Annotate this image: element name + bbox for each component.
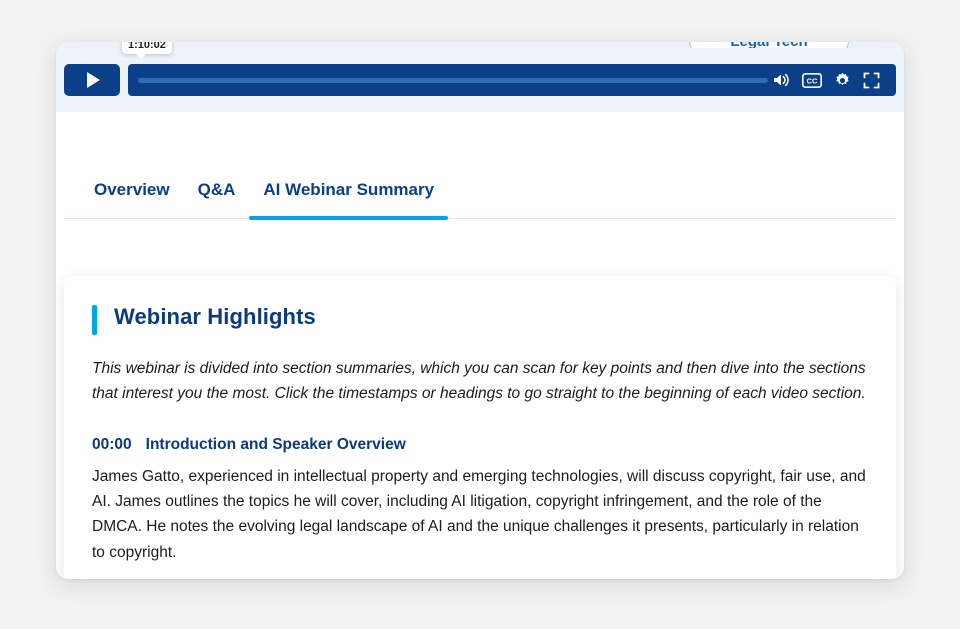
time-tooltip: 1:10:02 <box>122 42 172 54</box>
section-body-0: James Gatto, experienced in intellectual… <box>92 464 868 564</box>
section-timestamp-0[interactable]: 00:00 <box>92 436 132 453</box>
gear-icon[interactable] <box>834 72 851 89</box>
tab-list: Overview Q&A AI Webinar Summary <box>64 154 896 219</box>
progress-bar[interactable]: 1:10:02 CC <box>128 64 896 96</box>
intro-paragraph: This webinar is divided into section sum… <box>92 356 867 406</box>
tab-overview[interactable]: Overview <box>80 154 184 218</box>
accent-bar <box>92 305 97 335</box>
progress-track[interactable] <box>138 78 768 83</box>
page-title: Webinar Highlights <box>114 304 868 330</box>
tabs-region: Overview Q&A AI Webinar Summary <box>56 154 904 219</box>
volume-icon[interactable] <box>772 72 790 88</box>
tab-ai-webinar-summary[interactable]: AI Webinar Summary <box>249 154 448 218</box>
app-window: Legal Tech 1:10:02 <box>56 42 904 579</box>
svg-text:CC: CC <box>807 76 818 85</box>
play-icon <box>87 72 100 88</box>
section-title-0[interactable]: Introduction and Speaker Overview <box>146 436 406 453</box>
section-heading-0[interactable]: 00:00Introduction and Speaker Overview <box>92 436 406 454</box>
webinar-highlights-card: Webinar Highlights This webinar is divid… <box>64 276 896 579</box>
closed-captions-icon[interactable]: CC <box>802 73 822 88</box>
tab-qa[interactable]: Q&A <box>184 154 250 218</box>
highlights-header: Webinar Highlights <box>92 304 868 330</box>
fullscreen-icon[interactable] <box>863 72 880 89</box>
play-button[interactable] <box>64 64 120 96</box>
video-player-controls: 1:10:02 CC <box>56 48 904 112</box>
